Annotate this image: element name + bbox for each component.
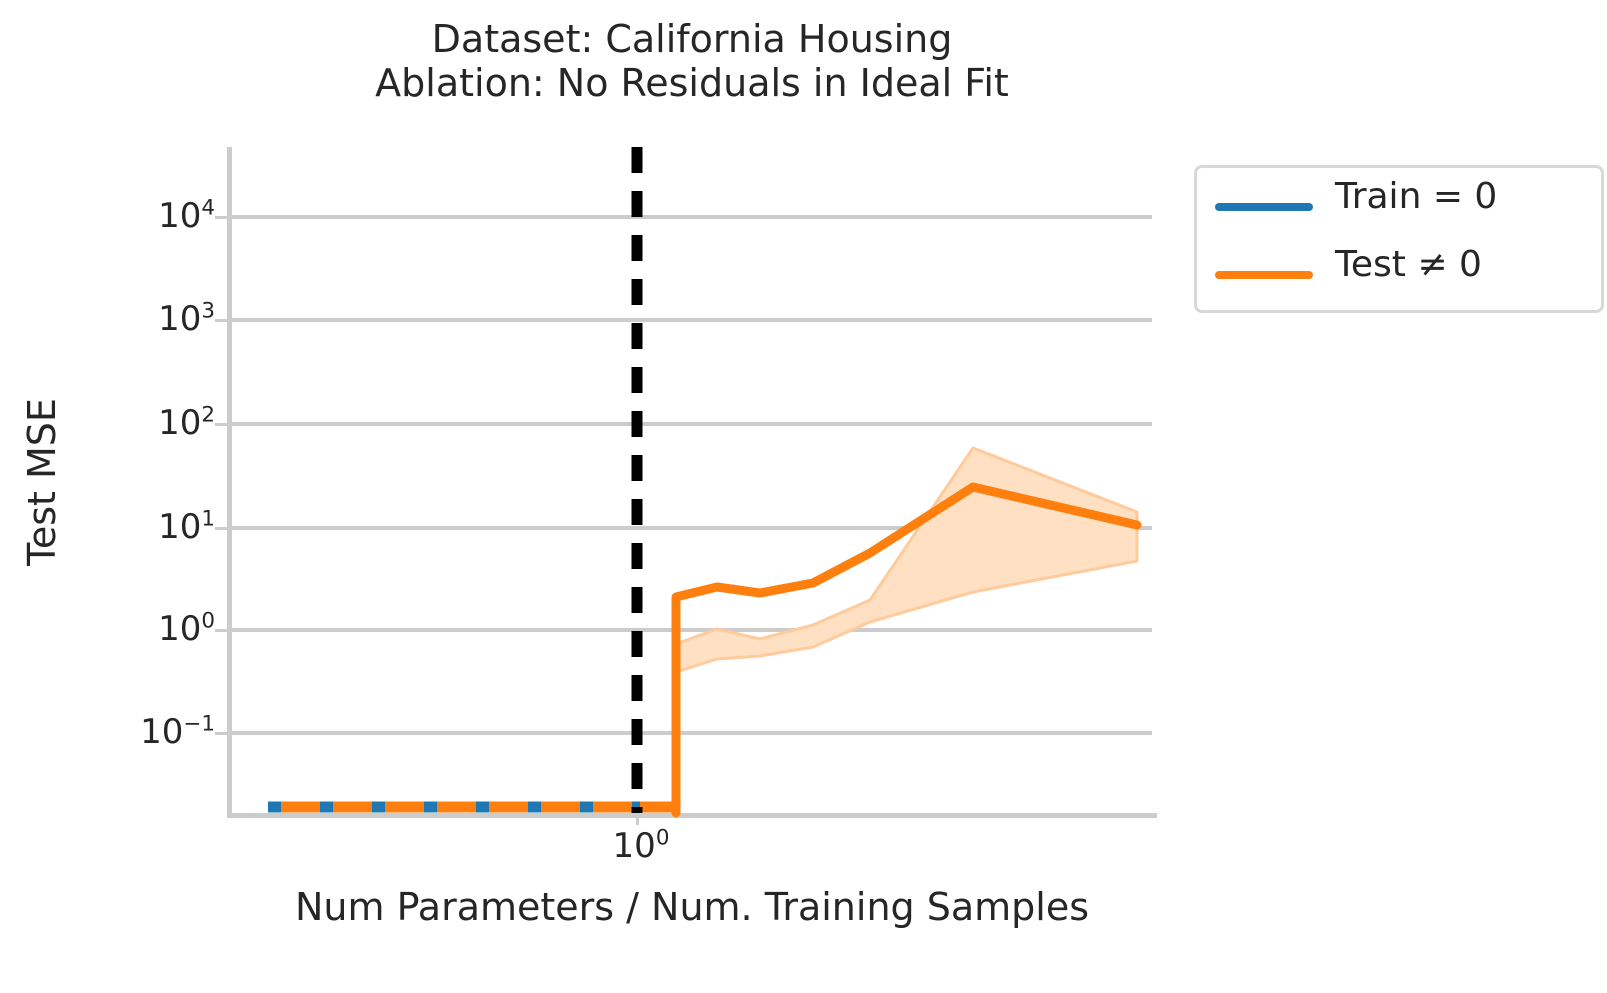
legend-label-train: Train = 0 bbox=[1335, 176, 1497, 217]
legend-entry-train[interactable]: Train = 0 bbox=[1197, 170, 1604, 244]
y-tick-label-1e3: 103 bbox=[0, 299, 215, 339]
y-tick-exponent-1e3: 3 bbox=[201, 299, 215, 324]
legend-entry-test[interactable]: Test ≠ 0 bbox=[1197, 238, 1604, 312]
legend-swatch-test bbox=[1215, 271, 1313, 279]
y-tick-mark-1em1 bbox=[215, 732, 227, 735]
y-tick-mark-1e3 bbox=[215, 319, 227, 322]
legend-label-test: Test ≠ 0 bbox=[1335, 244, 1482, 285]
x-tick-exponent-1e0: 0 bbox=[656, 826, 670, 851]
y-tick-exponent-1e4: 4 bbox=[201, 196, 215, 221]
y-tick-label-1e4: 104 bbox=[0, 196, 215, 236]
plot-area bbox=[232, 147, 1152, 813]
legend-swatch-train bbox=[1215, 203, 1313, 211]
x-axis-label: Num Parameters / Num. Training Samples bbox=[232, 885, 1152, 929]
y-tick-label-1em1: 10−1 bbox=[0, 712, 215, 752]
y-tick-label-1e0: 100 bbox=[0, 609, 215, 649]
title-line-2: Ablation: No Residuals in Ideal Fit bbox=[232, 62, 1152, 106]
legend[interactable]: Train = 0 Test ≠ 0 bbox=[1194, 165, 1604, 313]
y-axis-label-wrapper: Test MSE bbox=[0, 360, 240, 600]
axis-spine-bottom bbox=[227, 813, 1157, 818]
y-tick-mark-1e0 bbox=[215, 629, 227, 632]
y-axis-label: Test MSE bbox=[20, 362, 64, 602]
figure-canvas: Dataset: California Housing Ablation: No… bbox=[0, 0, 1607, 993]
x-tick-label-1e0: 100 bbox=[613, 826, 670, 866]
title-line-1: Dataset: California Housing bbox=[432, 17, 953, 61]
y-tick-exponent-1e0: 0 bbox=[201, 609, 215, 634]
y-tick-exponent-1em1: −1 bbox=[183, 712, 215, 737]
page-title: Dataset: California Housing Ablation: No… bbox=[232, 18, 1152, 105]
y-tick-mark-1e4 bbox=[215, 216, 227, 219]
data-layer bbox=[232, 147, 1152, 813]
confidence-band-test bbox=[676, 448, 1137, 672]
